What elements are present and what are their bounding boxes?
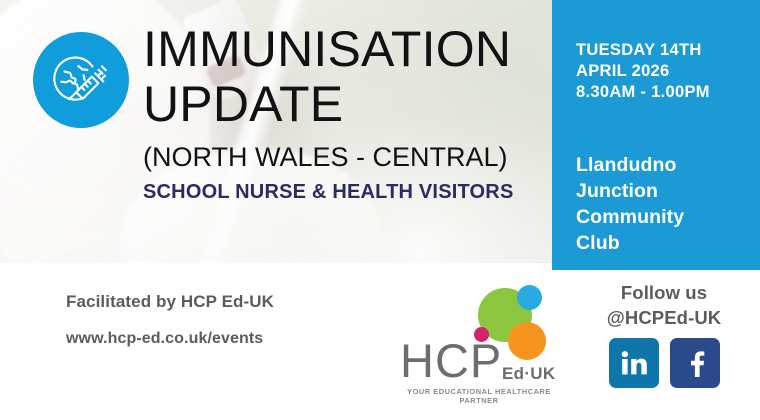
page-title-line2: UPDATE [143, 77, 543, 132]
social-handle: @HCPEd-UK [578, 305, 750, 330]
audience-subtitle: SCHOOL NURSE & HEALTH VISITORS [143, 179, 543, 205]
linkedin-icon[interactable] [609, 338, 659, 388]
facilitated-by-text: Facilitated by HCP Ed-UK [66, 292, 274, 312]
page-title-line1: IMMUNISATION [143, 22, 543, 77]
event-banner: IMMUNISATION UPDATE (NORTH WALES - CENTR… [0, 0, 760, 420]
event-time: 8.30AM - 1.00PM [576, 82, 756, 103]
footer-bar: Facilitated by HCP Ed-UK www.hcp-ed.co.u… [0, 270, 760, 420]
event-date-line1: TUESDAY 14TH [576, 40, 756, 61]
follow-us-label: Follow us [578, 280, 750, 305]
logo-circle-orange-icon [508, 322, 546, 360]
venue-line2: Junction [576, 178, 756, 204]
title-block: IMMUNISATION UPDATE (NORTH WALES - CENTR… [143, 22, 543, 205]
logo-wordmark: HCP [400, 337, 502, 384]
logo-circle-blue-icon [517, 285, 542, 310]
event-venue: Llandudno Junction Community Club [576, 152, 756, 256]
logo-sub-wordmark: Ed·UK [502, 364, 555, 384]
facebook-icon[interactable] [670, 338, 720, 388]
social-icon-row [578, 338, 750, 388]
event-date-time: TUESDAY 14TH APRIL 2026 8.30AM - 1.00PM [576, 40, 756, 103]
website-link[interactable]: www.hcp-ed.co.uk/events [66, 330, 263, 348]
globe-syringe-icon [33, 32, 129, 128]
venue-line1: Llandudno [576, 152, 756, 178]
hcp-logo: HCP Ed·UK YOUR EDUCATIONAL HEALTHCARE PA… [398, 282, 558, 404]
event-date-line2: APRIL 2026 [576, 61, 756, 82]
venue-line4: Club [576, 230, 756, 256]
region-subtitle: (NORTH WALES - CENTRAL) [143, 139, 543, 175]
venue-line3: Community [576, 204, 756, 230]
event-details-panel: TUESDAY 14TH APRIL 2026 8.30AM - 1.00PM … [552, 0, 760, 270]
social-block: Follow us @HCPEd-UK [578, 280, 750, 388]
logo-tagline: YOUR EDUCATIONAL HEALTHCARE PARTNER [400, 387, 558, 405]
